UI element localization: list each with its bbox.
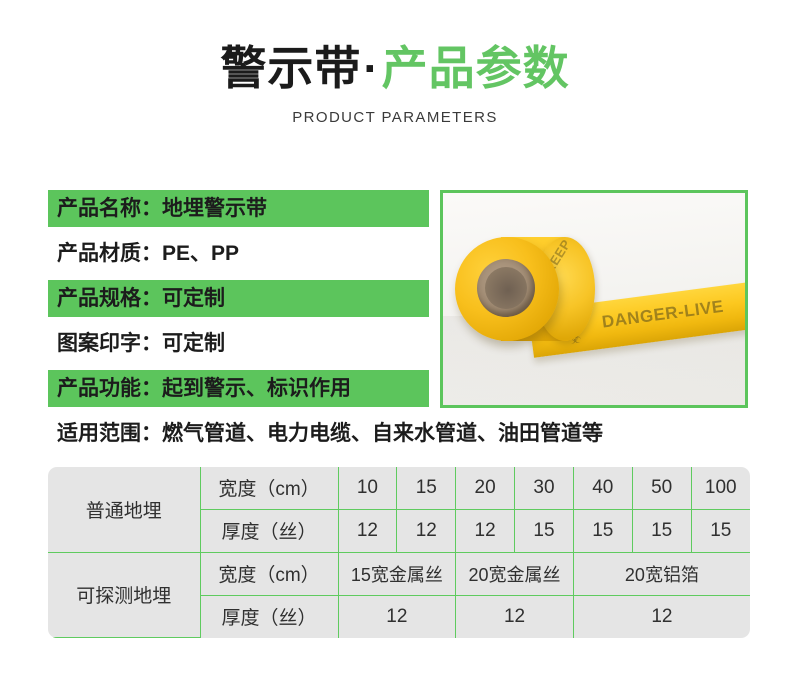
group-label-detectable: 可探测地埋 [48, 552, 200, 637]
page-title-parameters: 产品参数 [382, 42, 570, 94]
spec-row-product-function: 产品功能：起到警示、标识作用 [48, 370, 429, 407]
spec-text: 适用范围：燃气管道、电力电缆、自来水管道、油田管道等 [57, 415, 603, 452]
cell-thickness-6: 15 [632, 509, 691, 552]
spec-text: 产品功能：起到警示、标识作用 [57, 370, 351, 407]
page-title: 警示带·产品参数 [0, 42, 790, 95]
metric-label-thickness-detectable: 厚度（丝） [200, 595, 338, 637]
cell-width-1: 10 [338, 467, 397, 509]
spec-text: 产品名称：地埋警示带 [57, 190, 267, 227]
table-row: 可探测地埋 宽度（cm） 15宽金属丝 20宽金属丝 20宽铝箔 [48, 552, 750, 595]
cell-width-6: 50 [632, 467, 691, 509]
cell-thickness-5: 15 [573, 509, 632, 552]
cell-detect-width-3: 20宽铝箔 [573, 552, 750, 595]
cell-width-2: 15 [397, 467, 456, 509]
metric-label-thickness-ordinary: 厚度（丝） [200, 509, 338, 552]
spec-row-pattern-printing: 图案印字：可定制 [48, 325, 429, 362]
cell-thickness-1: 12 [338, 509, 397, 552]
cell-detect-thickness-2: 12 [456, 595, 574, 637]
page-title-product: 警示带 [220, 42, 361, 94]
group-label-ordinary: 普通地埋 [48, 467, 200, 552]
cell-detect-width-1: 15宽金属丝 [338, 552, 456, 595]
product-photo: DANGER-LIVE ☣ KEEP [440, 190, 748, 408]
spec-row-product-material: 产品材质：PE、PP [48, 235, 429, 272]
spec-row-product-name: 产品名称：地埋警示带 [48, 190, 429, 227]
tape-roll-core-hole [485, 267, 527, 309]
page-title-separator: · [361, 42, 381, 94]
page-subtitle: PRODUCT PARAMETERS [0, 109, 790, 126]
spec-text: 产品规格：可定制 [57, 280, 225, 317]
tape-printed-text: DANGER-LIVE [601, 297, 725, 333]
spec-row-product-spec: 产品规格：可定制 [48, 280, 429, 317]
cell-thickness-7: 15 [691, 509, 750, 552]
cell-width-7: 100 [691, 467, 750, 509]
product-parameters-page: 警示带·产品参数 PRODUCT PARAMETERS 产品名称：地埋警示带 产… [0, 0, 790, 674]
page-header: 警示带·产品参数 PRODUCT PARAMETERS [0, 0, 790, 126]
parameter-table: 普通地埋 宽度（cm） 10 15 20 30 40 50 100 厚度（丝） … [48, 467, 750, 638]
spec-row-application-scope: 适用范围：燃气管道、电力电缆、自来水管道、油田管道等 [48, 415, 742, 452]
cell-width-5: 40 [573, 467, 632, 509]
cell-detect-width-2: 20宽金属丝 [456, 552, 574, 595]
cell-width-4: 30 [515, 467, 574, 509]
cell-detect-thickness-3: 12 [573, 595, 750, 637]
cell-detect-thickness-1: 12 [338, 595, 456, 637]
metric-label-width-detectable: 宽度（cm） [200, 552, 338, 595]
metric-label-width-ordinary: 宽度（cm） [200, 467, 338, 509]
cell-thickness-2: 12 [397, 509, 456, 552]
spec-text: 图案印字：可定制 [57, 325, 225, 362]
spec-text: 产品材质：PE、PP [57, 235, 239, 272]
table-row: 普通地埋 宽度（cm） 10 15 20 30 40 50 100 [48, 467, 750, 509]
cell-thickness-4: 15 [515, 509, 574, 552]
cell-width-3: 20 [456, 467, 515, 509]
cell-thickness-3: 12 [456, 509, 515, 552]
